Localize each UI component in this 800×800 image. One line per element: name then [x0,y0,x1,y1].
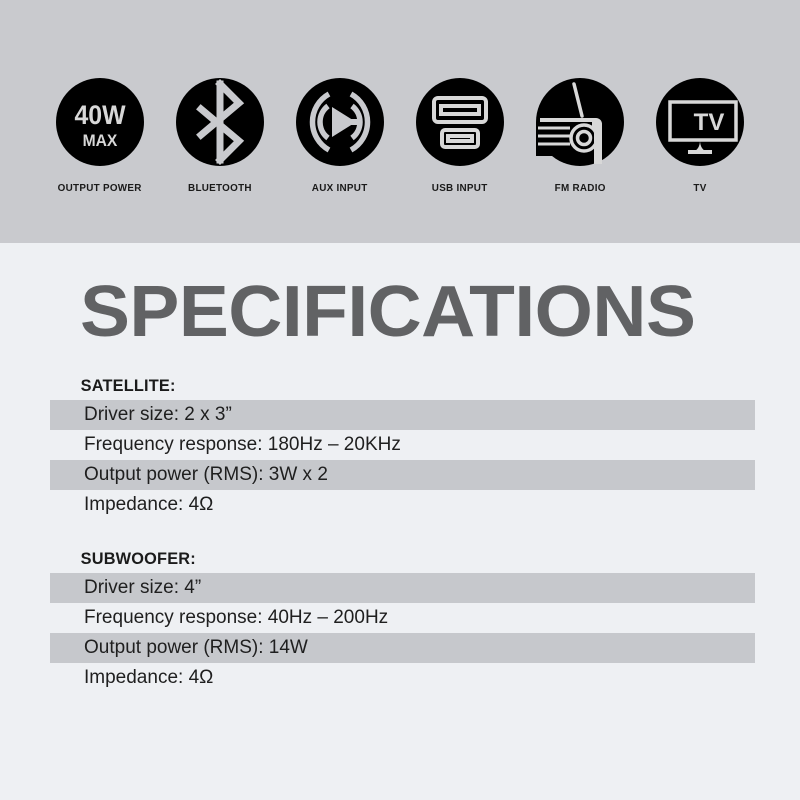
feature-band: 40W MAX OUTPUT POWER [0,0,800,243]
feature-label-bluetooth: BLUETOOTH [188,182,252,194]
badge-max-text: MAX [83,131,118,150]
spec-row-text: Output power (RMS): 14W [84,637,308,658]
spec-row: Frequency response: 180Hz – 20KHz [0,430,800,460]
feature-item-usb-input[interactable]: USB INPUT [400,78,520,194]
spec-row-text: Impedance: 4Ω [84,667,213,688]
spec-group-heading: SATELLITE: [0,375,768,400]
spec-row: Driver size: 2 x 3” [0,400,800,430]
feature-item-output-power[interactable]: 40W MAX OUTPUT POWER [40,78,160,194]
usb-input-icon [416,78,504,166]
specifications-section: SPECIFICATIONS SATELLITE: Driver size: 2… [0,243,800,800]
feature-item-aux-input[interactable]: AUX INPUT [280,78,400,194]
spec-group-subwoofer: SUBWOOFER: Driver size: 4” Frequency res… [0,548,800,693]
badge-40w-text: 40W [74,101,126,130]
feature-item-fm-radio[interactable]: FM RADIO [520,78,640,194]
spec-row-text: Impedance: 4Ω [84,494,213,515]
output-power-40w-max-icon: 40W MAX [56,78,144,166]
spec-row: Impedance: 4Ω [0,490,800,520]
feature-label-output-power: OUTPUT POWER [58,182,142,194]
feature-item-tv[interactable]: TV TV [640,78,760,194]
page-title: SPECIFICATIONS [80,276,695,348]
spec-row: Impedance: 4Ω [0,663,800,693]
spec-row: Frequency response: 40Hz – 200Hz [0,603,800,633]
spec-row-text: Driver size: 4” [84,577,201,598]
spec-group-satellite: SATELLITE: Driver size: 2 x 3” Frequency… [0,375,800,520]
aux-input-icon [296,78,384,166]
spec-row-text: Output power (RMS): 3W x 2 [84,464,328,485]
spec-row: Driver size: 4” [0,573,800,603]
feature-item-bluetooth[interactable]: BLUETOOTH [160,78,280,194]
tv-badge-text: TV [694,109,725,136]
feature-label-usb-input: USB INPUT [432,182,488,194]
spec-group-heading: SUBWOOFER: [0,548,768,573]
feature-label-tv: TV [693,182,706,194]
fm-radio-icon [536,78,624,166]
feature-label-aux-input: AUX INPUT [312,182,368,194]
spec-row: Output power (RMS): 3W x 2 [0,460,800,490]
spec-row-text: Frequency response: 40Hz – 200Hz [84,607,388,628]
spec-row: Output power (RMS): 14W [0,633,800,663]
feature-label-fm-radio: FM RADIO [554,182,605,194]
spec-row-text: Driver size: 2 x 3” [84,404,232,425]
tv-icon: TV [656,78,744,166]
bluetooth-icon [176,78,264,166]
spec-row-text: Frequency response: 180Hz – 20KHz [84,434,401,455]
feature-icon-row: 40W MAX OUTPUT POWER [0,78,800,194]
